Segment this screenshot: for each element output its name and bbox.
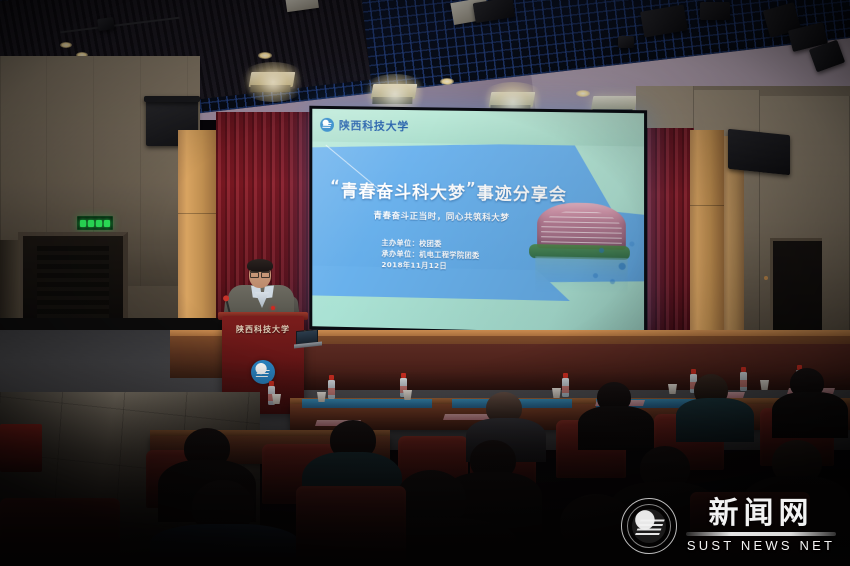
glasses-icon xyxy=(250,271,270,276)
loudspeaker-right xyxy=(728,129,790,176)
exit-glyph xyxy=(80,220,86,227)
slide-title: “青春奋斗科大梦”事迹分享会 xyxy=(330,177,579,206)
close-quote: ” xyxy=(466,179,477,197)
auditorium-photo: 陕西科技大学 “青春奋斗科大梦”事迹分享会 青春奋斗正当时，同心共筑科大梦 主办… xyxy=(0,0,850,566)
stage-curtain-right xyxy=(646,128,694,350)
exit-glyph xyxy=(88,220,94,227)
slide-title-tail: 事迹分享会 xyxy=(477,184,567,206)
news-watermark: 新闻网 SUST NEWS NET xyxy=(621,498,836,554)
open-quote: “ xyxy=(330,177,341,195)
speaker-mount xyxy=(144,96,200,102)
slide-title-main: 青春奋斗科大梦 xyxy=(341,182,466,204)
ceiling-downlight xyxy=(440,78,454,85)
exit-glyph xyxy=(96,220,102,227)
ceiling-downlight xyxy=(576,90,590,97)
slide-canvas: 陕西科技大学 “青春奋斗科大梦”事迹分享会 青春奋斗正当时，同心共筑科大梦 主办… xyxy=(312,109,644,334)
ceiling-downlight xyxy=(258,52,272,59)
stage-wash-light xyxy=(489,92,536,107)
watermark-text: 新闻网 SUST NEWS NET xyxy=(686,499,836,553)
wood-pilaster-right xyxy=(690,130,724,356)
stage-wash-light xyxy=(249,72,296,87)
university-name: 陕西科技大学 xyxy=(339,117,409,134)
slide-credits: 主办单位：校团委 承办单位：机电工程学院团委 2018年11月12日 xyxy=(381,237,479,272)
watercolor-splash xyxy=(583,229,644,301)
emergency-exit-sign xyxy=(77,216,113,230)
slide-header-bar: 陕西科技大学 xyxy=(312,109,644,147)
watermark-chinese: 新闻网 xyxy=(709,499,814,529)
right-door-handle xyxy=(764,276,768,280)
exit-glyph xyxy=(104,220,110,227)
watermark-english: SUST NEWS NET xyxy=(687,538,835,553)
podium-nameplate: 陕西科技大学 xyxy=(222,324,304,335)
spotlight-fixture xyxy=(97,17,115,31)
slide-date-line: 2018年11月12日 xyxy=(381,259,479,272)
ceiling-downlight xyxy=(60,42,72,48)
spotlight-fixture xyxy=(618,36,634,48)
seal-core xyxy=(632,509,666,543)
sust-news-seal-icon xyxy=(621,498,677,554)
spotlight-fixture xyxy=(700,2,730,20)
presenter-lapel-pin xyxy=(271,306,275,310)
watermark-brush-rule xyxy=(686,532,836,536)
led-presentation-screen: 陕西科技大学 “青春奋斗科大梦”事迹分享会 青春奋斗正当时，同心共筑科大梦 主办… xyxy=(309,106,647,337)
stage-wash-light xyxy=(371,84,418,99)
university-logo-icon xyxy=(320,118,334,132)
